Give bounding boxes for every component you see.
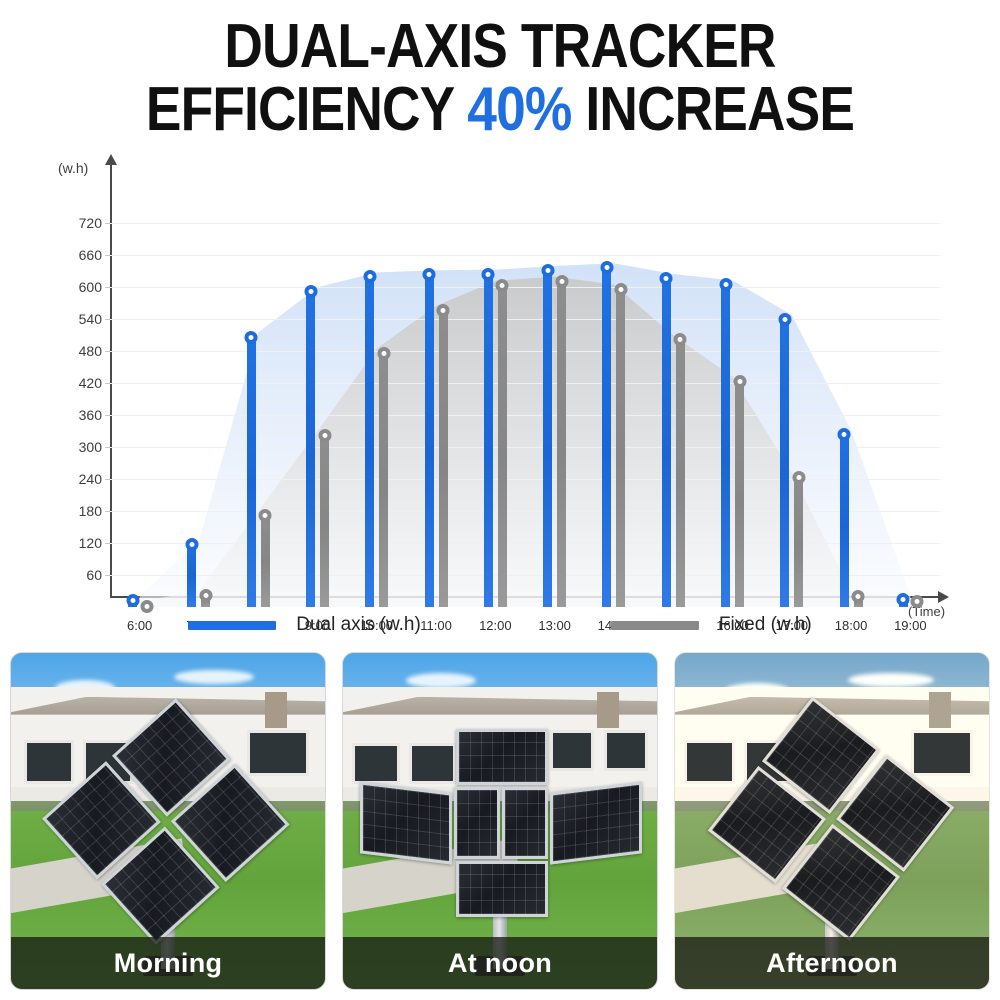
solar-panel [456,729,548,785]
y-tick-mark [105,287,110,288]
y-tick-label: 360 [79,407,102,423]
bar-gray [379,349,388,607]
y-axis-unit-label: (w.h) [58,160,88,176]
gridline: 420 [110,383,940,384]
y-tick-label: 420 [79,375,102,391]
panel-caption-afternoon: Afternoon [675,937,989,989]
solar-panel [502,787,548,859]
y-tick-mark [105,319,110,320]
y-tick-label: 660 [79,247,102,263]
bar-blue [365,272,374,607]
window [911,730,974,776]
y-tick-mark [105,415,110,416]
y-tick-label: 60 [86,567,102,583]
bar-blue [840,430,849,607]
solar-panel [454,787,500,859]
bar-blue [484,270,493,607]
legend-swatch-dual-axis [188,621,276,630]
data-point-marker-gray [199,589,212,602]
headline-highlight-percent: 40% [467,75,571,144]
data-point-marker-blue [185,538,198,551]
bar-blue [306,287,315,607]
gridline: 600 [110,287,940,288]
window [24,740,74,783]
data-point-marker-gray [852,590,865,603]
gridline: 60 [110,575,940,576]
bar-gray [498,281,507,607]
bar-blue [543,266,552,607]
bar-gray [616,285,625,607]
bar-gray [320,431,329,607]
data-point-marker-gray [792,471,805,484]
data-point-marker-blue [304,285,317,298]
y-tick-mark [105,447,110,448]
y-tick-mark [105,511,110,512]
caption-text: At noon [448,948,552,979]
bar-blue [662,274,671,607]
gridline: 480 [110,351,940,352]
data-point-marker-blue [423,268,436,281]
data-point-marker-gray [555,275,568,288]
bar-blue [602,263,611,607]
gridline: 300 [110,447,940,448]
data-point-marker-gray [496,279,509,292]
bar-blue [425,270,434,607]
y-tick-mark [105,351,110,352]
solar-panel [550,781,642,864]
data-point-marker-gray [733,375,746,388]
bar-gray [439,306,448,607]
y-tick-label: 540 [79,311,102,327]
data-point-marker-blue [363,270,376,283]
y-tick-label: 480 [79,343,102,359]
y-tick-mark [105,575,110,576]
bar-gray [794,473,803,607]
window [409,743,456,784]
panel-afternoon: Afternoon [674,652,990,990]
data-point-marker-gray [377,347,390,360]
data-point-marker-blue [838,428,851,441]
headline-suffix: INCREASE [571,75,854,144]
data-point-marker-blue [719,278,732,291]
data-point-marker-blue [482,268,495,281]
data-point-marker-gray [259,509,272,522]
gridline: 120 [110,543,940,544]
gridline: 180 [110,511,940,512]
y-tick-mark [105,255,110,256]
headline-line-1: DUAL-AXIS TRACKER [70,18,930,75]
efficiency-chart: (w.h) (Time) [0,148,1000,648]
legend-item-fixed: Fixed (w.h) [611,614,812,636]
plot-area: 60120180240300360420480540600660720 6:00… [110,162,940,607]
window [604,730,648,771]
y-tick-mark [105,479,110,480]
y-tick-mark [105,223,110,224]
gridline: 660 [110,255,940,256]
window [550,730,594,771]
window [352,743,399,784]
caption-text: Afternoon [766,948,898,979]
chimney [929,692,951,728]
y-tick-label: 180 [79,503,102,519]
chart-legend: Dual axis (w.h) Fixed (w.h) [0,614,1000,636]
y-tick-mark [105,543,110,544]
y-tick-label: 240 [79,471,102,487]
bar-gray [676,335,685,607]
data-point-marker-blue [897,593,910,606]
cloud-icon [174,670,254,684]
bar-blue [247,333,256,607]
data-point-marker-gray [911,595,924,608]
legend-swatch-fixed [611,621,699,630]
data-point-marker-gray [437,304,450,317]
solar-panel [456,861,548,917]
chimney [265,692,287,728]
legend-label-dual-axis: Dual axis (w.h) [296,614,421,636]
y-tick-label: 600 [79,279,102,295]
bar-blue [721,280,730,607]
bar-gray [557,277,566,607]
legend-label-fixed: Fixed (w.h) [719,614,812,636]
cloud-icon [848,673,934,687]
plot-inner: 60120180240300360420480540600660720 [110,202,940,607]
data-point-marker-blue [126,594,139,607]
window [684,740,734,783]
panel-caption-at-noon: At noon [343,937,657,989]
gridline: 720 [110,223,940,224]
panel-at-noon: At noon [342,652,658,990]
chimney [597,692,619,728]
series-area-fills [110,202,940,607]
legend-item-dual-axis: Dual axis (w.h) [188,614,421,636]
window [247,730,310,776]
panel-caption-morning: Morning [11,937,325,989]
data-point-marker-blue [541,264,554,277]
data-point-marker-gray [674,333,687,346]
gridline: 240 [110,479,940,480]
caption-text: Morning [114,948,223,979]
gridline: 360 [110,415,940,416]
data-point-marker-gray [614,283,627,296]
panel-morning: Morning [10,652,326,990]
bar-blue [780,315,789,607]
headline-prefix: EFFICIENCY [146,75,467,144]
data-point-marker-blue [245,331,258,344]
y-tick-mark [105,383,110,384]
headline-line-2: EFFICIENCY 40% INCREASE [70,81,930,138]
data-point-marker-blue [600,261,613,274]
y-tick-label: 720 [79,215,102,231]
y-tick-label: 120 [79,535,102,551]
data-point-marker-blue [778,313,791,326]
data-point-marker-blue [660,272,673,285]
data-point-marker-gray [140,600,153,613]
data-point-marker-gray [318,429,331,442]
headline-block: DUAL-AXIS TRACKER EFFICIENCY 40% INCREAS… [0,18,1000,138]
gridline: 540 [110,319,940,320]
y-tick-label: 300 [79,439,102,455]
tracker-photo-panels: Morning [10,652,990,990]
bar-gray [735,377,744,607]
bar-gray [261,511,270,607]
solar-panel [360,781,452,864]
